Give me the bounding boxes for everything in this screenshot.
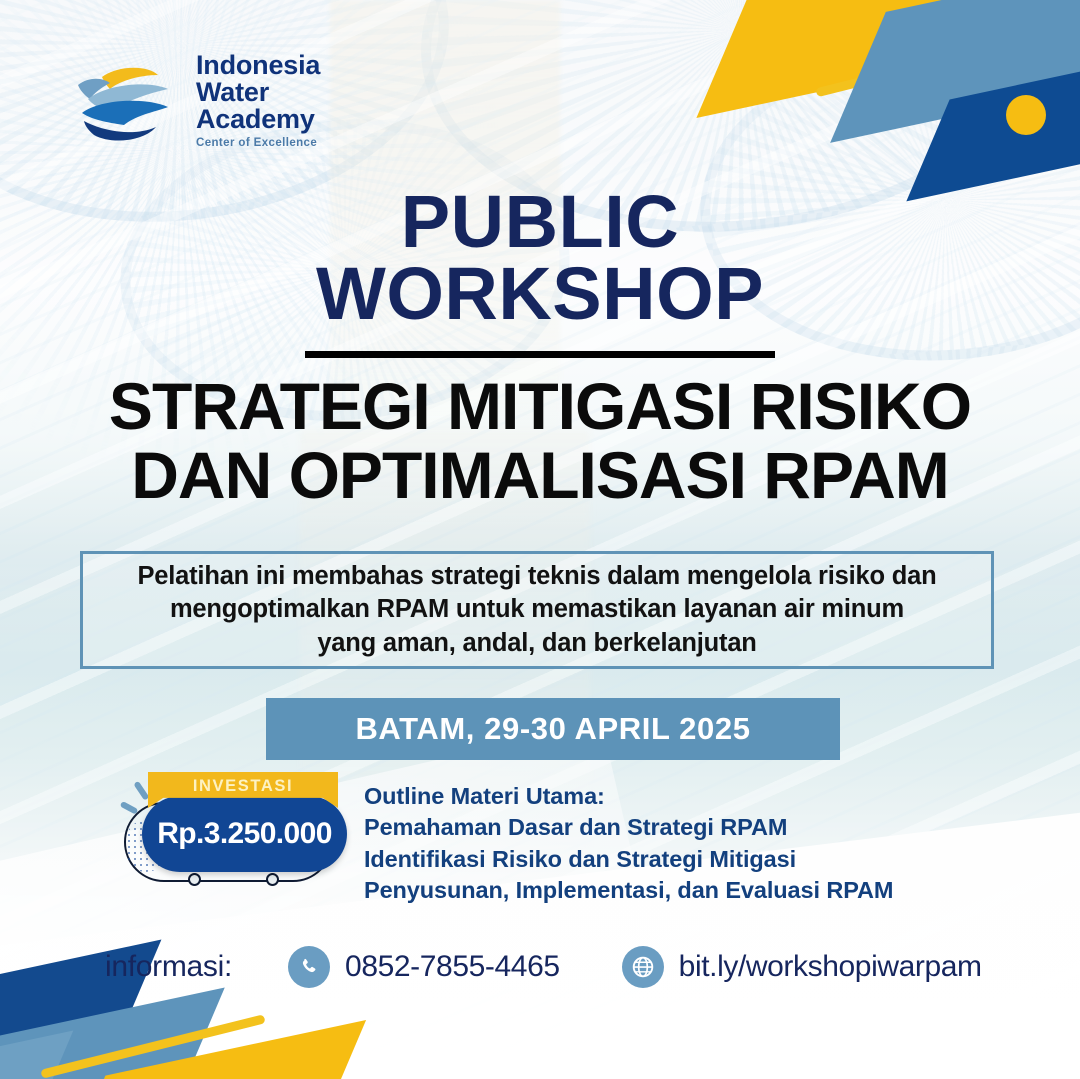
globe-icon	[622, 946, 664, 988]
price-amount: Rp.3.250.000	[157, 817, 332, 851]
contact-footer: informasi: 0852-7855-4465 bit.ly/worksho…	[105, 938, 985, 996]
ring-node	[188, 873, 201, 886]
logo-tagline: Center of Excellence	[196, 138, 320, 150]
brand-logo: Indonesia Water Academy Center of Excell…	[72, 52, 320, 150]
outline-list: Outline Materi Utama: Pemahaman Dasar da…	[364, 781, 893, 906]
logo-line-2: Water	[196, 79, 320, 106]
description-box: Pelatihan ini membahas strategi teknis d…	[80, 551, 994, 669]
price-badge: Rp.3.250.000 INVESTASI	[118, 778, 348, 888]
contact-website[interactable]: bit.ly/workshopiwarpam	[622, 946, 982, 988]
website-url: bit.ly/workshopiwarpam	[679, 950, 982, 984]
outline-item-2: Identifikasi Risiko dan Strategi Mitigas…	[364, 844, 893, 875]
event-date-banner: BATAM, 29-30 APRIL 2025	[266, 698, 840, 760]
contact-phone[interactable]: 0852-7855-4465	[288, 946, 560, 988]
water-swoosh-logo-icon	[72, 55, 184, 147]
logo-line-3: Academy	[196, 106, 320, 133]
brand-logo-text: Indonesia Water Academy Center of Excell…	[196, 52, 320, 150]
eyebrow-line-2: WORKSHOP	[0, 258, 1080, 330]
outline-item-3: Penyusunan, Implementasi, dan Evaluasi R…	[364, 875, 893, 906]
ring-node	[266, 873, 279, 886]
eyebrow-line-1: PUBLIC	[0, 186, 1080, 258]
heading-divider	[305, 351, 775, 358]
event-date-text: BATAM, 29-30 APRIL 2025	[355, 711, 750, 747]
information-label: informasi:	[105, 950, 232, 984]
description-line-1: Pelatihan ini membahas strategi teknis d…	[137, 560, 936, 593]
poster-canvas: Indonesia Water Academy Center of Excell…	[0, 0, 1080, 1079]
title-line-1: STRATEGI MITIGASI RISIKO	[0, 372, 1080, 441]
page-title: STRATEGI MITIGASI RISIKO DAN OPTIMALISAS…	[0, 372, 1080, 511]
corner-dot-yellow	[1006, 95, 1046, 135]
outline-item-1: Pemahaman Dasar dan Strategi RPAM	[364, 812, 893, 843]
logo-line-1: Indonesia	[196, 52, 320, 79]
price-pill: Rp.3.250.000	[142, 796, 347, 872]
photo-fade-overlay	[0, 0, 1080, 1079]
eyebrow-heading: PUBLIC WORKSHOP	[0, 186, 1080, 330]
ribbon-label: INVESTASI	[193, 777, 293, 796]
phone-icon	[288, 946, 330, 988]
description-line-3: yang aman, andal, dan berkelanjutan	[137, 627, 936, 660]
title-line-2: DAN OPTIMALISASI RPAM	[0, 441, 1080, 510]
phone-number: 0852-7855-4465	[345, 950, 560, 984]
description-line-2: mengoptimalkan RPAM untuk memastikan lay…	[137, 593, 936, 626]
outline-heading: Outline Materi Utama:	[364, 781, 893, 812]
